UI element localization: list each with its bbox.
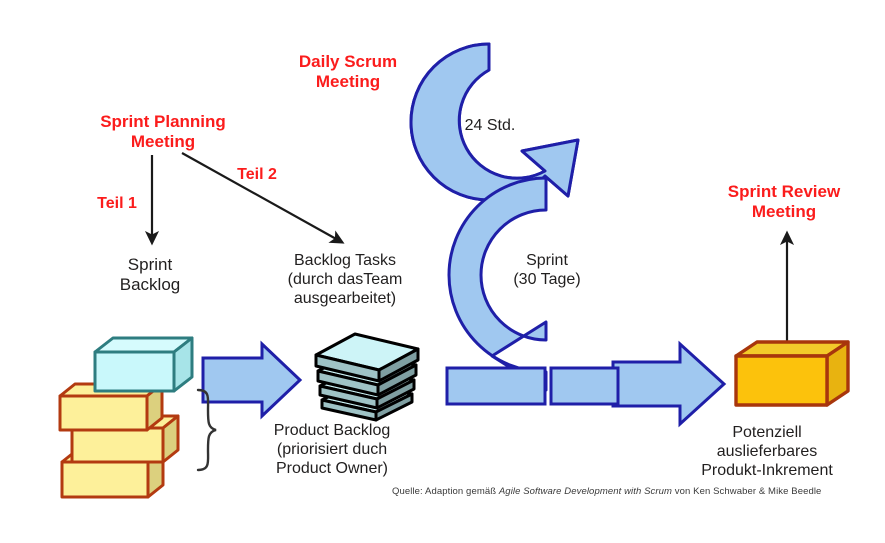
label-sprint-backlog: Sprint Backlog [90,255,210,295]
source-book-title: Agile Software Development with Scrum [499,486,672,497]
label-sprint-planning-meeting: Sprint Planning Meeting [78,112,248,152]
scrum-diagram-canvas: Daily Scrum Meeting Sprint Planning Meet… [0,0,885,543]
label-product-increment: Potenziell auslieferbares Produkt-Inkrem… [672,424,862,481]
label-cycle-24-std: 24 Std. [425,117,555,136]
flow-arrow-right-icon [613,344,724,424]
backlog-tasks-paper-stack-icon [316,334,418,420]
label-sprint-review-meeting: Sprint Review Meeting [704,182,864,222]
product-increment-box-icon [736,342,848,405]
sprint-outflow-connector-icon [447,368,618,404]
flow-arrow-left-icon [203,344,300,416]
label-teil-2: Teil 2 [222,166,292,185]
product-backlog-box-stack-icon [60,384,178,497]
sprint-backlog-box-icon [95,338,192,391]
label-sprint-duration: Sprint (30 Tage) [472,252,622,290]
label-backlog-tasks: Backlog Tasks (durch dasTeam ausgearbeit… [250,252,440,309]
source-suffix: von Ken Schwaber & Mike Beedle [672,486,821,497]
label-daily-scrum-meeting: Daily Scrum Meeting [268,52,428,92]
label-teil-1: Teil 1 [82,195,152,214]
label-product-backlog: Product Backlog (priorisiert duch Produc… [232,422,432,479]
source-prefix: Quelle: Adaption gemäß [392,486,499,497]
source-attribution: Quelle: Adaption gemäß Agile Software De… [392,486,862,497]
